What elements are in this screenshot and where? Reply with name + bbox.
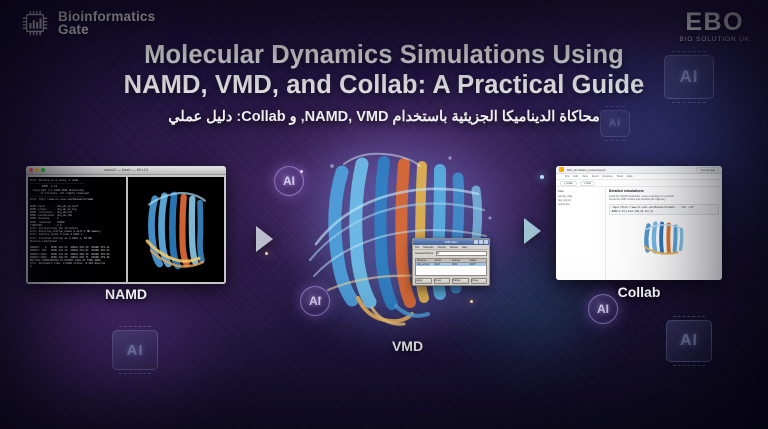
table-row[interactable]: ubq_wb.psf 6123 0/0/1 ADFT xyxy=(416,263,486,266)
vmd-dialog-titlebar[interactable]: VMD Main xyxy=(413,239,489,245)
menu-item-view[interactable]: View xyxy=(582,175,588,178)
ai-badge-label: AI xyxy=(309,294,321,308)
ebo-wordmark: EBO xyxy=(679,10,750,35)
collab-file-sidebar[interactable]: Files sample_data ubq_wb.psf output.dcd xyxy=(556,187,606,280)
collab-toolbar[interactable]: + Code + Text xyxy=(556,180,722,187)
notebook-heading: Detailed simulations xyxy=(609,189,719,193)
ai-badge-top: AI xyxy=(274,166,304,196)
cell-frames: 0/0/1 xyxy=(451,263,469,266)
ai-badge-right: AI xyxy=(588,294,618,324)
menu-item-help[interactable]: Help xyxy=(627,175,633,178)
menu-item-insert[interactable]: Insert xyxy=(592,175,599,178)
close-icon[interactable] xyxy=(484,240,488,244)
step-label-vmd: VMD xyxy=(300,338,515,354)
workflow-arrow-2 xyxy=(524,218,541,244)
namd-terminal-output[interactable]: Info: Running on 8 cores, 1 node -------… xyxy=(28,177,126,282)
menu-item-edit[interactable]: Edit xyxy=(573,175,578,178)
namd-molecule-viewport[interactable] xyxy=(128,177,224,282)
presentation-slide: AI AI AI AI Bioinformatics Gate xyxy=(0,0,768,429)
vmd-main-dialog[interactable]: VMD Main File Molecule Display Mouse Hel… xyxy=(412,238,490,286)
title-line-1: Molecular Dynamics Simulations Using xyxy=(0,40,768,70)
glow-left xyxy=(20,290,200,410)
chip-label: AI xyxy=(127,342,144,359)
protein-output-icon xyxy=(635,217,693,259)
brand-logo-left[interactable]: Bioinformatics Gate xyxy=(20,8,155,38)
collab-main: Files sample_data ubq_wb.psf output.dcd … xyxy=(556,187,722,280)
collab-filename[interactable]: MD_simulation_tutorial.ipynb xyxy=(567,168,606,172)
menu-item-molecule[interactable]: Molecule xyxy=(423,246,433,249)
brand-name-left: Bioinformatics Gate xyxy=(58,10,155,36)
chip-label: AI xyxy=(680,332,698,350)
colab-logo-icon xyxy=(559,167,564,172)
reset-button[interactable]: Reset xyxy=(434,278,451,284)
namd-window-title: namd2 — bash — 80×24 xyxy=(26,168,226,172)
code-cell[interactable]: !wget https://www.ks.uiuc.edu/Research/n… xyxy=(609,204,719,215)
window-controls[interactable] xyxy=(474,240,488,244)
ai-badge-label: AI xyxy=(283,174,295,188)
vmd-molecule-table[interactable]: Molecule Atoms Frames Status ubq_wb.psf … xyxy=(415,258,487,276)
file-item-dcd[interactable]: output.dcd xyxy=(558,203,603,207)
step-label-collab: Collab xyxy=(556,284,722,300)
namd-window-body: Info: Running on 8 cores, 1 node -------… xyxy=(26,175,226,284)
col-molecule: Molecule xyxy=(416,259,434,262)
menu-item-runtime[interactable]: Runtime xyxy=(603,175,613,178)
cell-status: ADFT xyxy=(469,263,487,266)
step-label-namd: NAMD xyxy=(26,286,226,302)
add-code-button[interactable]: + Code xyxy=(560,181,577,186)
menu-item-display[interactable]: Display xyxy=(438,246,447,249)
namd-titlebar[interactable]: namd2 — bash — 80×24 xyxy=(26,166,226,175)
chip-icon-bottom-right: AI xyxy=(666,320,712,362)
collab-window[interactable]: MD_simulation_tutorial.ipynb Connected F… xyxy=(556,166,722,280)
vmd-visualization[interactable]: VMD Main File Molecule Display Mouse Hel… xyxy=(300,148,515,333)
collab-titlebar[interactable]: MD_simulation_tutorial.ipynb Connected xyxy=(556,166,722,174)
ai-badge-label: AI xyxy=(597,302,609,316)
title-line-2: NAMD, VMD, and Collab: A Practical Guide xyxy=(0,70,768,100)
maximize-icon[interactable] xyxy=(479,240,483,244)
namd-window[interactable]: namd2 — bash — 80×24 Info: Running on 8 … xyxy=(26,166,226,284)
vmd-dialog-buttons[interactable]: Apply Reset Delete Close xyxy=(413,277,489,285)
spark xyxy=(265,252,268,255)
close-button[interactable]: Close xyxy=(471,278,488,284)
vmd-selection-row: Selected Atoms: all xyxy=(413,250,489,257)
connect-status-badge[interactable]: Connected xyxy=(696,167,719,173)
protein-structure-icon xyxy=(128,177,224,282)
vmd-dialog-title: VMD Main xyxy=(444,240,457,244)
title-block: Molecular Dynamics Simulations Using NAM… xyxy=(0,40,768,125)
workflow-arrow-1 xyxy=(256,226,273,252)
col-atoms: Atoms xyxy=(434,259,452,262)
apply-button[interactable]: Apply xyxy=(415,278,432,284)
cell-atoms: 6123 xyxy=(434,263,452,266)
menu-item-file[interactable]: File xyxy=(565,175,569,178)
sidebar-title: Files xyxy=(558,189,603,193)
selection-input[interactable]: all xyxy=(436,251,487,256)
minimize-icon[interactable] xyxy=(474,240,478,244)
microchip-icon xyxy=(20,8,50,38)
spark xyxy=(540,175,544,179)
cell-molecule: ubq_wb.psf xyxy=(416,263,434,266)
menu-item-file[interactable]: File xyxy=(415,246,419,249)
menu-item-tools[interactable]: Tools xyxy=(617,175,623,178)
file-tree[interactable]: sample_data ubq_wb.psf output.dcd xyxy=(558,195,603,207)
col-frames: Frames xyxy=(451,259,469,262)
collab-notebook-content[interactable]: Detailed simulations Install the NAMD ap… xyxy=(606,187,722,280)
menu-item-help[interactable]: Help xyxy=(462,246,467,249)
brand-line-2: Gate xyxy=(58,23,155,36)
notebook-paragraph-2: Import the VMD module and visualize the … xyxy=(609,198,719,201)
page-title: Molecular Dynamics Simulations Using NAM… xyxy=(0,40,768,100)
cell-output-render xyxy=(609,217,719,259)
menu-item-mouse[interactable]: Mouse xyxy=(450,246,458,249)
selection-label: Selected Atoms: xyxy=(415,252,434,255)
delete-button[interactable]: Delete xyxy=(452,278,469,284)
col-status: Status xyxy=(469,259,487,262)
page-subtitle-arabic: محاكاة الديناميكا الجزيئية باستخدام NAMD… xyxy=(0,109,768,125)
chip-icon-bottom-left: AI xyxy=(112,330,158,370)
ai-badge-left: AI xyxy=(300,286,330,316)
brand-logo-right[interactable]: EBO BIO SOLUTION UK xyxy=(679,10,750,43)
add-text-button[interactable]: + Text xyxy=(580,181,595,186)
